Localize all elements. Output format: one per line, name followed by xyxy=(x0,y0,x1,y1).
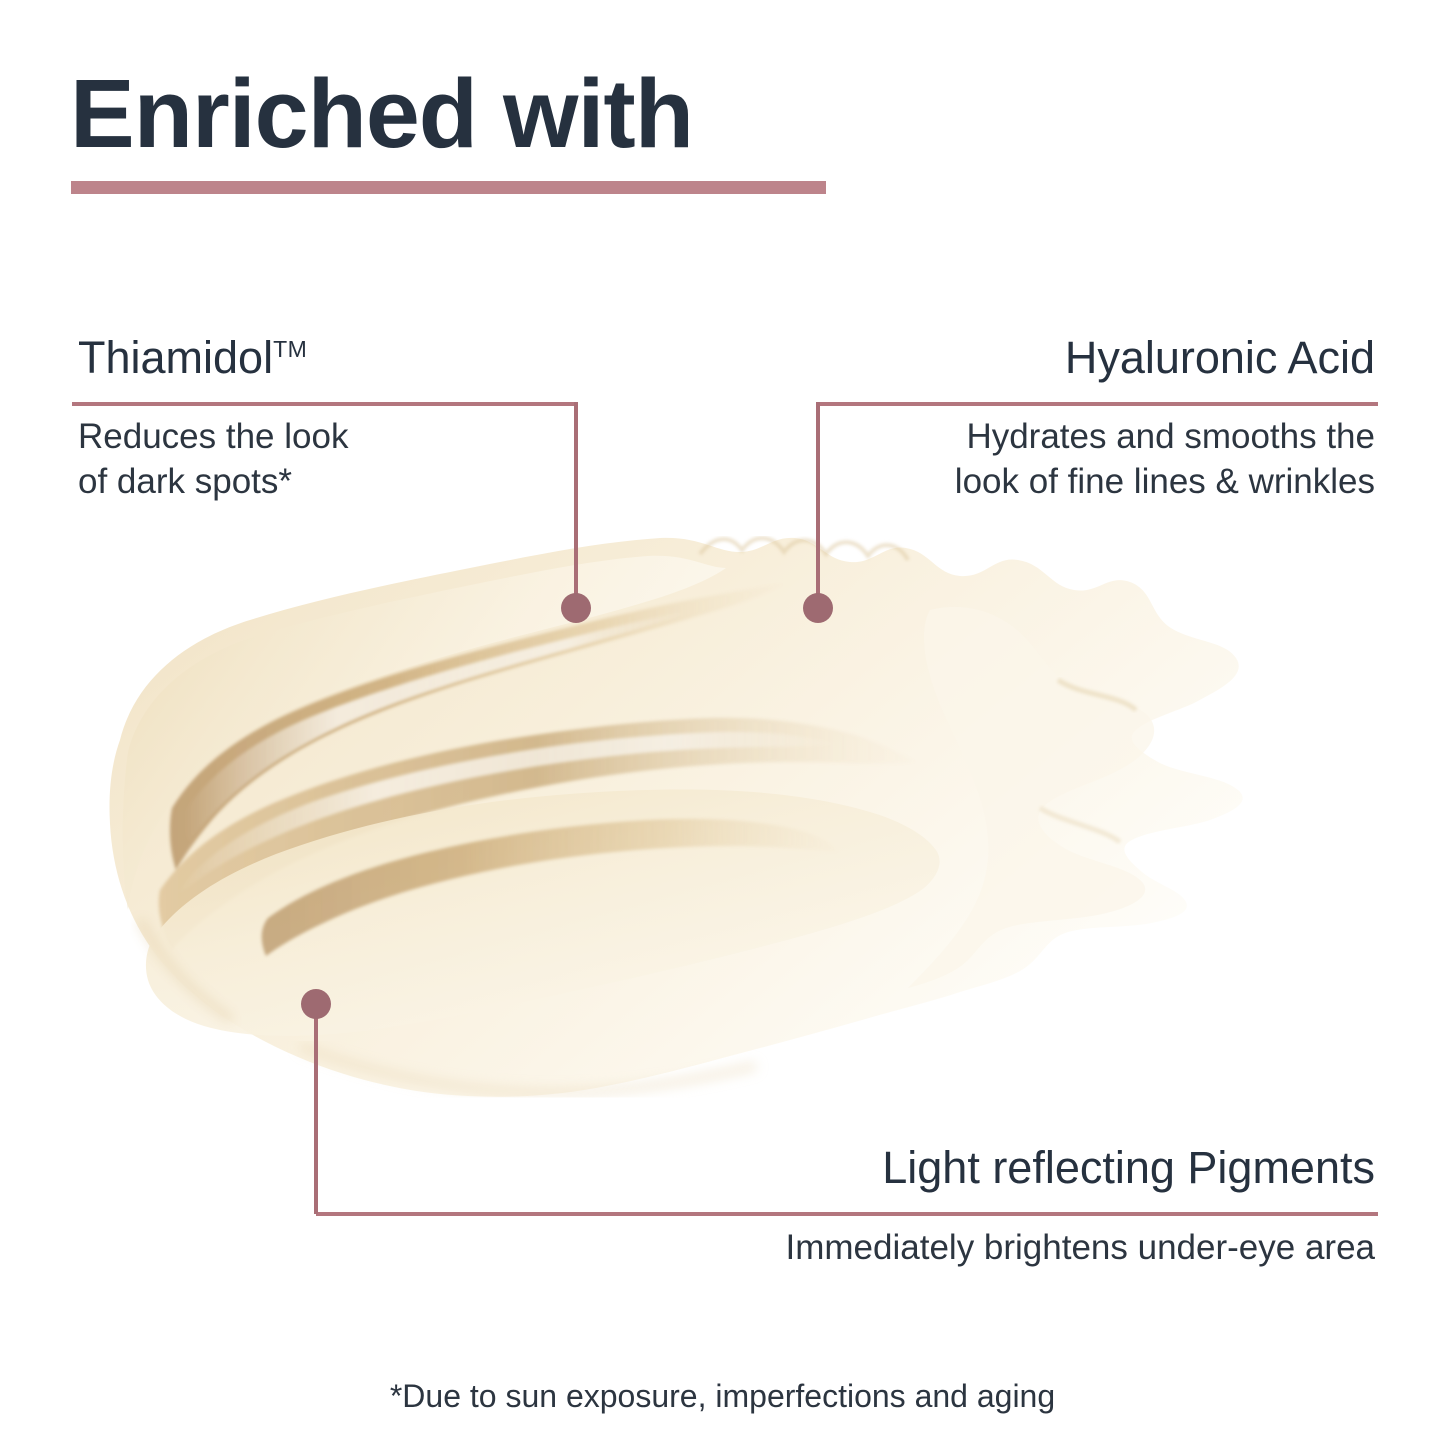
callout-heading-light-reflecting-pigments: Light reflecting Pigments xyxy=(882,1144,1375,1193)
callout-rule-thiamidol xyxy=(72,402,578,406)
trademark-symbol: TM xyxy=(273,336,307,362)
cream-lower-body xyxy=(146,790,940,1036)
callout-rule-light-reflecting-pigments xyxy=(316,1212,1378,1216)
connector-line-thiamidol xyxy=(574,402,578,608)
title-underline xyxy=(71,181,826,194)
page-title: Enriched with xyxy=(70,62,693,167)
callout-description-hyaluronic-acid: Hydrates and smooths the look of fine li… xyxy=(675,415,1375,505)
cream-streak-lower xyxy=(262,819,838,956)
cream-left-shade xyxy=(140,920,232,1020)
callout-heading-text: Thiamidol xyxy=(78,332,273,383)
cream-crest-scallops xyxy=(700,538,908,560)
cream-bottom-shade xyxy=(300,1046,756,1093)
cream-right-lobes xyxy=(908,607,1154,988)
cream-swatch xyxy=(0,490,1445,1130)
callout-description-thiamidol: Reduces the look of dark spots* xyxy=(78,415,548,505)
cream-body xyxy=(109,538,1242,1097)
connector-dot-hyaluronic-acid xyxy=(803,593,833,623)
cream-streak-middle xyxy=(159,718,916,950)
callout-description-light-reflecting-pigments: Immediately brightens under-eye area xyxy=(475,1226,1375,1271)
connector-dot-thiamidol xyxy=(561,593,591,623)
callout-heading-thiamidol: ThiamidolTM xyxy=(78,334,307,383)
cream-upper-ridge xyxy=(123,556,726,910)
footnote: *Due to sun exposure, imperfections and … xyxy=(0,1378,1445,1415)
connector-dot-light-reflecting-pigments xyxy=(301,989,331,1019)
callout-heading-text: Light reflecting Pigments xyxy=(882,1142,1375,1193)
callout-rule-hyaluronic-acid xyxy=(818,402,1378,406)
callout-heading-hyaluronic-acid: Hyaluronic Acid xyxy=(1065,334,1375,383)
connector-line-hyaluronic-acid xyxy=(816,402,820,608)
cream-highlight-middle xyxy=(176,732,840,894)
cream-streak-top xyxy=(170,584,784,870)
cream-highlight-top xyxy=(184,610,694,842)
connector-line-light-reflecting-pigments xyxy=(314,1012,318,1214)
cream-edge-shade-1 xyxy=(1058,680,1136,710)
infographic-page: Enriched with xyxy=(0,0,1445,1445)
cream-edge-shade-2 xyxy=(1040,808,1120,842)
callout-heading-text: Hyaluronic Acid xyxy=(1065,332,1375,383)
